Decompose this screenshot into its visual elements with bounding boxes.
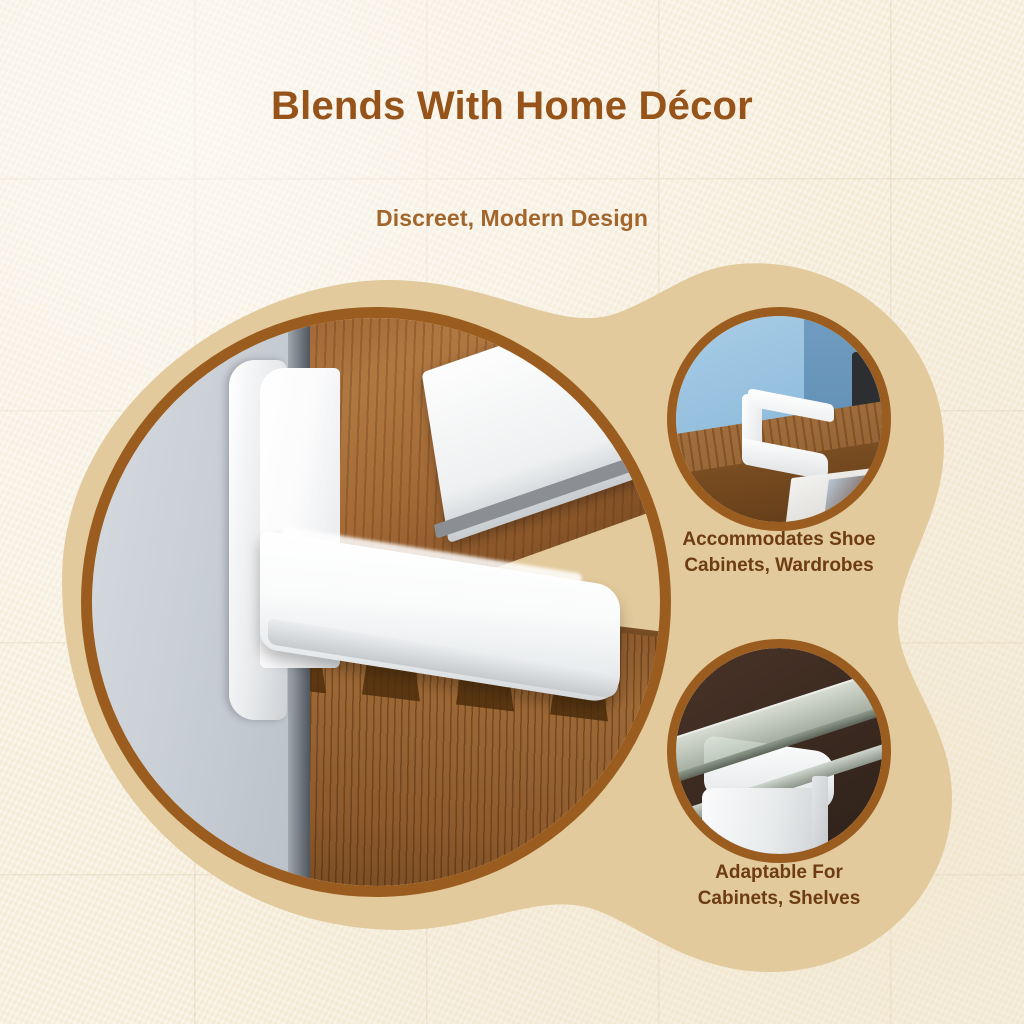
bracket-side-edge (812, 776, 828, 854)
caption-line-1: Adaptable For (629, 860, 929, 886)
magazine-cover-photo (824, 471, 882, 520)
caption-bottom-right: Adaptable For Cabinets, Shelves (629, 860, 929, 912)
feature-image-bottom-right (676, 648, 882, 854)
page-subtitle: Discreet, Modern Design (0, 205, 1024, 232)
page-title: Blends With Home Décor (0, 84, 1024, 129)
top-right-scene (676, 316, 882, 522)
feature-image-main: LOFT (92, 318, 660, 886)
product-feature-graphic: Blends With Home Décor Discreet, Modern … (0, 0, 1024, 1024)
bottom-right-scene (676, 648, 882, 854)
caption-top-right: Accommodates Shoe Cabinets, Wardrobes (629, 527, 929, 579)
feature-image-top-right (676, 316, 882, 522)
bracket-front-face (702, 788, 818, 854)
caption-line-1: Accommodates Shoe (629, 527, 929, 553)
main-scene: LOFT (92, 318, 660, 886)
caption-line-2: Cabinets, Wardrobes (629, 553, 929, 579)
caption-line-2: Cabinets, Shelves (629, 886, 929, 912)
